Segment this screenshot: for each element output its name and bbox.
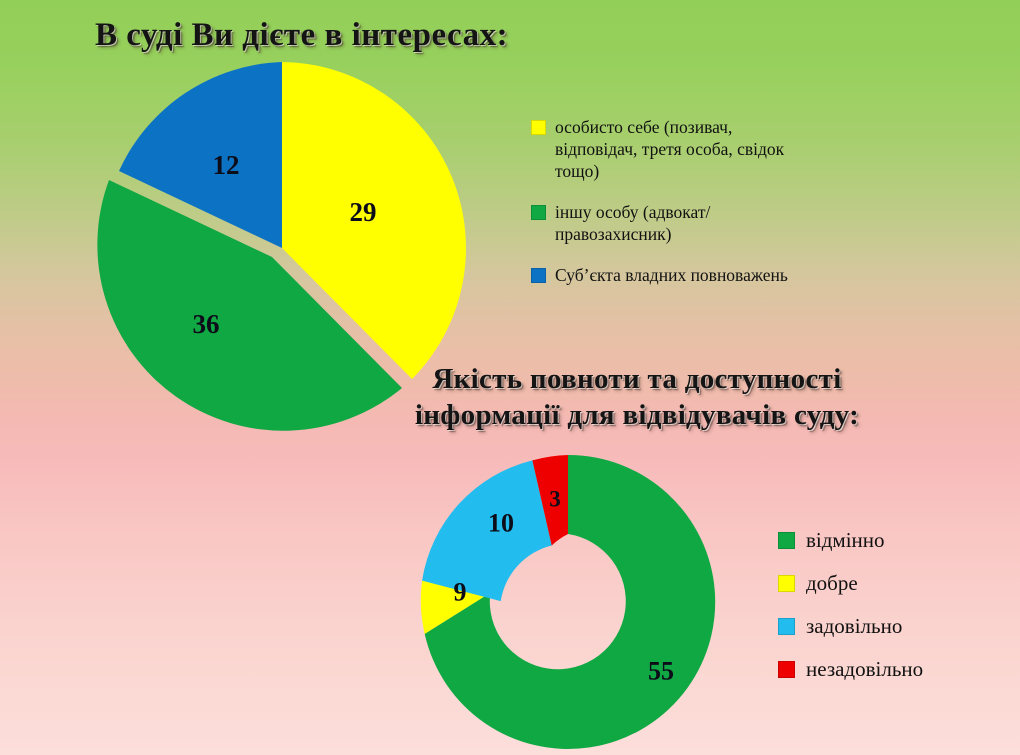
legend-label-personally: особисто себе (позивач, відповідач, трет… — [555, 116, 791, 182]
presentation-slide: В суді Ви дієте в інтересах: 29 36 12 ос… — [0, 0, 1020, 755]
legend-swatch-yellow-icon — [531, 120, 546, 135]
legend-label-authority: Суб’єкта владних повноважень — [555, 264, 788, 286]
donut-slice-satisfactory[interactable] — [422, 460, 552, 601]
donut-label-10: 10 — [488, 509, 514, 538]
pie-label-36: 36 — [193, 309, 220, 339]
legend-swatch-green-icon — [531, 205, 546, 220]
pie-label-12: 12 — [213, 150, 240, 180]
legend-item-unsatisfactory[interactable]: незадовільно — [778, 657, 1018, 682]
pie-chart-title: В суді Ви дієте в інтересах: — [95, 16, 508, 54]
pie-chart-legend: особисто себе (позивач, відповідач, трет… — [531, 116, 811, 305]
legend-swatch-yellow-icon — [778, 575, 795, 592]
donut-label-3: 3 — [549, 487, 561, 512]
legend-swatch-lightblue-icon — [778, 618, 795, 635]
legend-item-satisfactory[interactable]: задовільно — [778, 614, 1018, 639]
legend-item-excellent[interactable]: відмінно — [778, 528, 1018, 553]
donut-chart-title: Якість повноти та доступності інформації… — [372, 361, 902, 433]
legend-label-satisfactory: задовільно — [806, 614, 902, 639]
donut-chart-legend: відмінно добре задовільно незадовільно — [778, 528, 1018, 700]
legend-item-good[interactable]: добре — [778, 571, 1018, 596]
legend-swatch-red-icon — [778, 661, 795, 678]
donut-label-9: 9 — [454, 578, 467, 607]
legend-label-unsatisfactory: незадовільно — [806, 657, 923, 682]
legend-item-personally[interactable]: особисто себе (позивач, відповідач, трет… — [531, 116, 811, 182]
legend-swatch-green-icon — [778, 532, 795, 549]
legend-label-excellent: відмінно — [806, 528, 885, 553]
legend-swatch-blue-icon — [531, 268, 546, 283]
info-quality-donut-chart: 55 9 10 3 — [414, 445, 724, 755]
donut-chart-title-line-1: Якість повноти та доступності — [372, 361, 902, 397]
donut-label-55: 55 — [648, 657, 674, 686]
legend-item-authority[interactable]: Суб’єкта владних повноважень — [531, 264, 811, 286]
legend-label-good: добре — [806, 571, 858, 596]
pie-label-29: 29 — [350, 197, 377, 227]
legend-label-other-person: іншу особу (адвокат/правозахисник) — [555, 201, 791, 245]
donut-chart-title-line-2: інформації для відвідувачів суду: — [372, 397, 902, 433]
legend-item-other-person[interactable]: іншу особу (адвокат/правозахисник) — [531, 201, 811, 245]
